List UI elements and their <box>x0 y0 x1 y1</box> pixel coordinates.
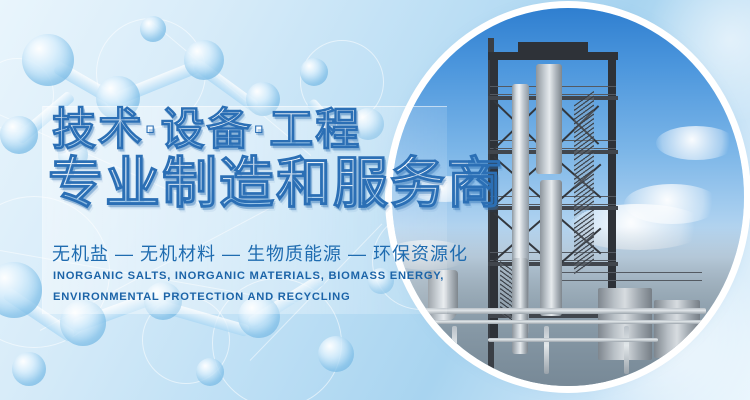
pipe-vertical <box>624 326 629 374</box>
pipe-rack <box>406 320 706 324</box>
process-vessel <box>536 64 562 174</box>
pipe-rack <box>406 308 706 314</box>
molecule-atom <box>196 358 224 386</box>
molecule-atom <box>22 34 74 86</box>
pipe-vertical <box>544 326 549 374</box>
cloud <box>656 126 736 160</box>
molecule-atom <box>12 352 46 386</box>
tower-cap <box>518 42 588 53</box>
subtitle-english: INORGANIC SALTS, INORGANIC MATERIALS, BI… <box>53 266 453 307</box>
molecule-atom <box>300 58 328 86</box>
promo-banner: 技术·设备·工程 专业制造和服务商 无机盐 — 无机材料 — 生物质能源 — 环… <box>0 0 750 400</box>
molecule-atom <box>184 40 224 80</box>
cloud <box>624 184 720 224</box>
pipe-vertical <box>452 326 457 374</box>
tower-cap <box>488 52 618 60</box>
molecule-atom <box>140 16 166 42</box>
pipe-rack <box>488 338 658 342</box>
molecule-atom <box>0 116 38 154</box>
process-vessel <box>540 180 562 316</box>
subtitle-chinese: 无机盐 — 无机材料 — 生物质能源 — 环保资源化 <box>52 240 468 266</box>
platform-railing <box>562 272 702 281</box>
molecule-atom <box>318 336 354 372</box>
